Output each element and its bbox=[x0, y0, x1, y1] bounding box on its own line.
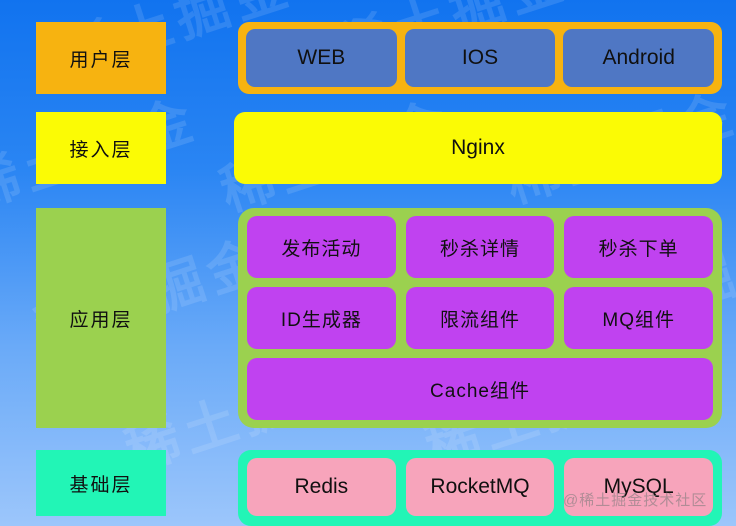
node-nginx[interactable]: Nginx bbox=[234, 112, 722, 184]
layer-label-application: 应用层 bbox=[36, 208, 166, 428]
node-mq-component[interactable]: MQ组件 bbox=[564, 287, 713, 349]
node-cache-component[interactable]: Cache组件 bbox=[247, 358, 713, 420]
node-seckill-detail[interactable]: 秒杀详情 bbox=[406, 216, 555, 278]
node-rate-limiter[interactable]: 限流组件 bbox=[406, 287, 555, 349]
node-publish-activity[interactable]: 发布活动 bbox=[247, 216, 396, 278]
layer-label-entry-text: 接入层 bbox=[69, 135, 132, 162]
layer-group-entry: Nginx bbox=[234, 112, 722, 184]
layer-label-user: 用户层 bbox=[36, 22, 166, 94]
node-android[interactable]: Android bbox=[563, 29, 714, 87]
layer-group-user: WEB IOS Android bbox=[238, 22, 722, 94]
node-rocketmq[interactable]: RocketMQ bbox=[406, 458, 555, 516]
layer-group-application: 发布活动 秒杀详情 秒杀下单 ID生成器 限流组件 MQ组件 Cache组件 bbox=[238, 208, 722, 428]
layer-label-user-text: 用户层 bbox=[69, 45, 132, 72]
node-web[interactable]: WEB bbox=[246, 29, 397, 87]
layer-label-entry: 接入层 bbox=[36, 112, 166, 184]
node-mysql[interactable]: MySQL bbox=[564, 458, 713, 516]
layer-label-application-text: 应用层 bbox=[69, 305, 132, 332]
layer-label-base-text: 基础层 bbox=[69, 470, 132, 497]
node-seckill-order[interactable]: 秒杀下单 bbox=[564, 216, 713, 278]
node-ios[interactable]: IOS bbox=[405, 29, 556, 87]
node-id-generator[interactable]: ID生成器 bbox=[247, 287, 396, 349]
application-row-3: Cache组件 bbox=[247, 358, 713, 420]
node-redis[interactable]: Redis bbox=[247, 458, 396, 516]
application-row-2: ID生成器 限流组件 MQ组件 bbox=[247, 287, 713, 349]
application-row-1: 发布活动 秒杀详情 秒杀下单 bbox=[247, 216, 713, 278]
layer-label-base: 基础层 bbox=[36, 450, 166, 516]
architecture-diagram-canvas: 稀土掘金 稀土掘金 稀土掘金 稀土掘金 稀土掘金 稀土掘金 稀土掘金 稀土掘金 … bbox=[0, 0, 736, 526]
layer-group-base: Redis RocketMQ MySQL bbox=[238, 450, 722, 526]
